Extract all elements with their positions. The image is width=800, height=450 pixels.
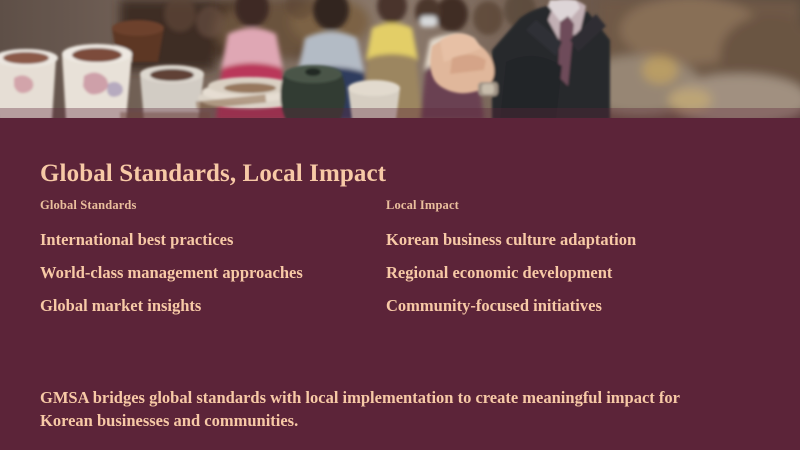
columns-container: Global Standards International best prac… xyxy=(0,198,800,327)
column-local-impact: Local Impact Korean business culture ada… xyxy=(373,198,760,327)
column-global-standards: Global Standards International best prac… xyxy=(0,198,373,327)
list-item: International best practices xyxy=(40,229,330,251)
list-item: Global market insights xyxy=(40,295,330,317)
list-item: Regional economic development xyxy=(386,262,741,284)
list-item: Community-focused initiatives xyxy=(386,295,741,317)
slide: Global Standards, Local Impact Global St… xyxy=(0,0,800,450)
list-local-impact: Korean business culture adaptation Regio… xyxy=(386,229,760,316)
column-header-local-impact: Local Impact xyxy=(386,198,760,213)
page-title: Global Standards, Local Impact xyxy=(40,160,386,188)
column-header-global-standards: Global Standards xyxy=(40,198,373,213)
list-item: Korean business culture adaptation xyxy=(386,229,741,251)
list-global-standards: International best practices World-class… xyxy=(40,229,373,316)
korean-market-handshake-photo xyxy=(0,0,800,120)
summary-statement: GMSA bridges global standards with local… xyxy=(40,386,700,434)
list-item: World-class management approaches xyxy=(40,262,330,284)
